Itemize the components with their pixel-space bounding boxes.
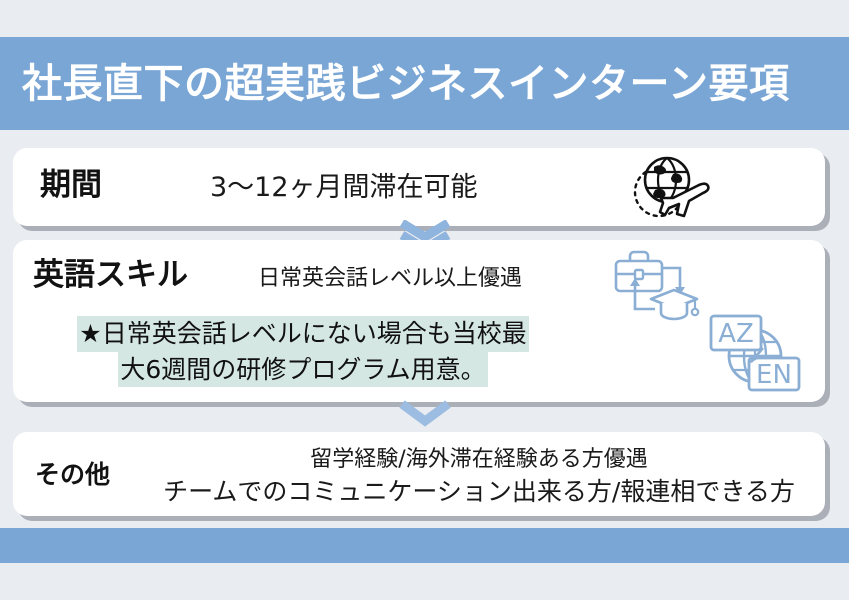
title-banner: 社長直下の超実践ビジネスインターン要項 (0, 37, 849, 130)
row-value-other: 留学経験/海外滞在経験ある方優遇 チームでのコミュニケーション出来る方/報連相で… (143, 446, 815, 508)
language-translate-globe-icon: AZ EN (707, 312, 803, 399)
translate-source-label: AZ (718, 319, 754, 349)
page-title: 社長直下の超実践ビジネスインターン要項 (22, 64, 790, 104)
row-label-period: 期間 (40, 170, 102, 201)
card-english-skill: 英語スキル 日常英会話レベル以上優遇 ★日常英会話レベルにない場合も当校最 大6… (13, 240, 825, 402)
english-skill-note: ★日常英会話レベルにない場合も当校最 大6週間の研修プログラム用意。 (13, 316, 593, 387)
row-label-other: その他 (35, 462, 110, 487)
card-other: その他 留学経験/海外滞在経験ある方優遇 チームでのコミュニケーション出来る方/… (13, 432, 825, 516)
globe-airplane-icon (621, 154, 717, 225)
note-line-1: ★日常英会話レベルにない場合も当校最 (77, 316, 528, 352)
career-cycle-icon (611, 246, 709, 329)
note-line-2: 大6週間の研修プログラム用意。 (118, 352, 487, 388)
translate-target-label: EN (756, 360, 792, 390)
bottom-accent-bar (0, 528, 849, 563)
chevron-down-icon (396, 400, 454, 433)
row-value-period: 3〜12ヶ月間滞在可能 (210, 174, 478, 201)
other-value-line-1: 留学経験/海外滞在経験ある方優遇 (143, 446, 815, 474)
row-label-english-skill: 英語スキル (33, 260, 188, 291)
row-value-english-skill: 日常英会話レベル以上優遇 (258, 268, 522, 290)
card-period: 期間 3〜12ヶ月間滞在可能 (13, 148, 825, 226)
other-value-line-2: チームでのコミュニケーション出来る方/報連相できる方 (143, 476, 815, 509)
